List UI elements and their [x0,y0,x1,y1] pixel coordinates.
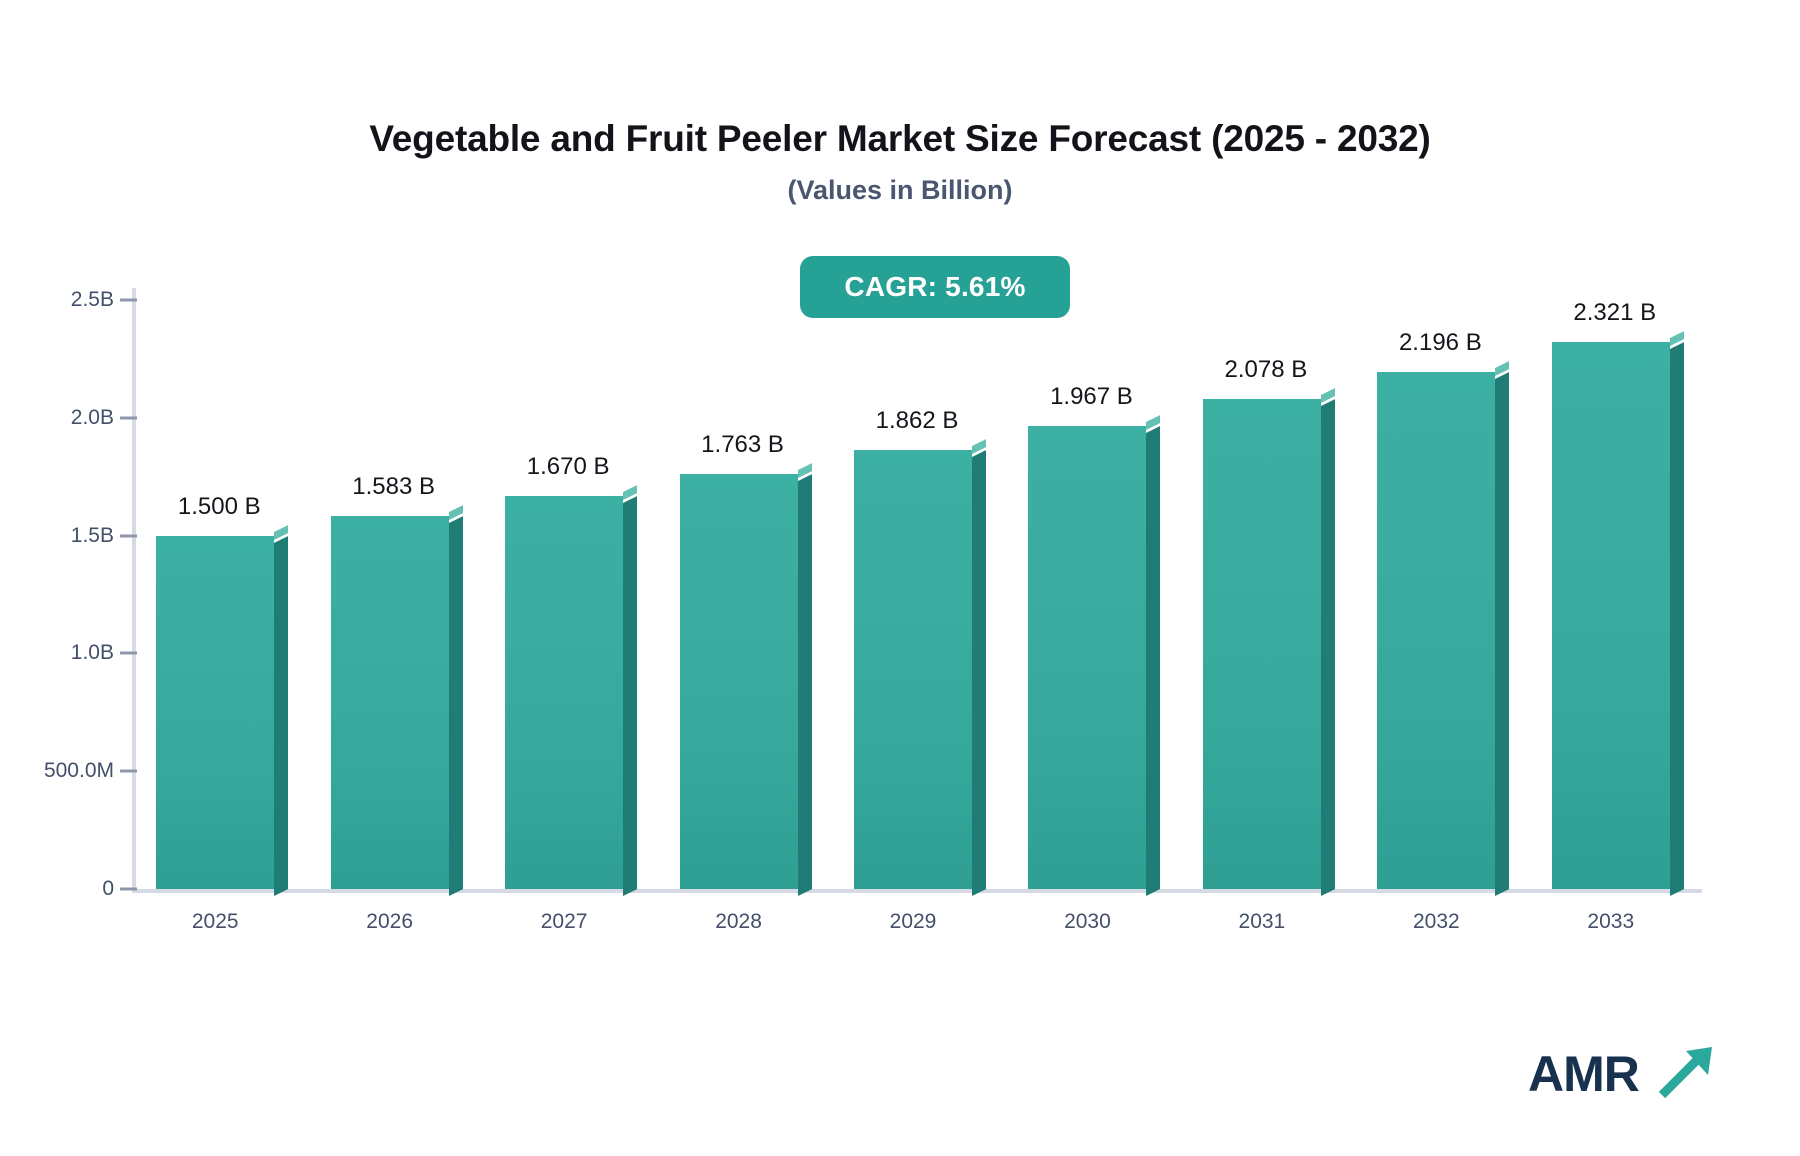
bar-value-label: 2.078 B [1225,356,1308,384]
x-axis-category-label: 2031 [1239,910,1286,934]
bar-value-label: 1.967 B [1050,383,1133,411]
bar-front-face [156,536,274,889]
amr-logo: AMR [1528,1045,1718,1107]
bar-value-label: 1.670 B [527,453,610,481]
bar-side-face [1146,426,1160,896]
y-axis-line [132,288,136,893]
bar-side-face [972,450,986,896]
y-axis-tick-label: 0 [4,877,114,901]
chart-canvas: Vegetable and Fruit Peeler Market Size F… [0,0,1800,1156]
x-axis-category-label: 2028 [715,910,762,934]
y-axis-tick-label: 500.0M [4,759,114,783]
bar[interactable] [1028,426,1146,889]
x-axis-category-label: 2033 [1587,910,1634,934]
bar-front-face [505,496,623,889]
bar-front-face [331,516,449,889]
y-axis-tick-label: 1.5B [4,524,114,548]
x-axis-category-label: 2025 [192,910,239,934]
bar-value-label: 1.500 B [178,493,261,521]
bar-front-face [1203,399,1321,889]
y-axis-tick-mark [120,416,137,419]
x-axis-category-label: 2027 [541,910,588,934]
bar[interactable] [1552,342,1670,889]
y-axis-tick-mark [120,534,137,537]
bar-front-face [854,450,972,889]
bar[interactable] [156,536,274,889]
x-axis-category-label: 2029 [890,910,937,934]
y-axis-tick-mark [120,299,137,302]
bar-side-face [623,496,637,896]
y-axis-tick-label: 2.0B [4,406,114,430]
y-axis-tick-label: 1.0B [4,641,114,665]
bar-front-face [1552,342,1670,889]
x-axis-category-label: 2032 [1413,910,1460,934]
x-axis-category-label: 2026 [366,910,413,934]
bar-side-face [1670,342,1684,896]
bar-side-face [274,536,288,896]
bar-side-face [798,474,812,896]
bar-front-face [1377,372,1495,889]
x-axis-line [132,889,1702,893]
bar-side-face [1495,372,1509,896]
chart-title: Vegetable and Fruit Peeler Market Size F… [0,118,1800,160]
bar[interactable] [505,496,623,889]
bar[interactable] [1203,399,1321,889]
bar-value-label: 1.763 B [701,431,784,459]
bar-value-label: 2.321 B [1573,299,1656,327]
bar-value-label: 2.196 B [1399,329,1482,357]
y-axis-tick-mark [120,770,137,773]
bar-side-face [1321,400,1335,896]
y-axis-tick-mark [120,888,137,891]
y-axis-tick-mark [120,652,137,655]
bar[interactable] [331,516,449,889]
bar-front-face [680,474,798,889]
growth-arrow-icon [1656,1045,1718,1100]
bar-front-face [1028,426,1146,889]
x-axis-category-label: 2030 [1064,910,1111,934]
bar[interactable] [854,450,972,889]
y-axis-tick-label: 2.5B [4,288,114,312]
bar-value-label: 1.862 B [876,407,959,435]
bar-side-face [449,516,463,896]
amr-logo-text: AMR [1528,1045,1639,1103]
bar[interactable] [1377,372,1495,889]
bar[interactable] [680,474,798,889]
plot-area: 0500.0M1.0B1.5B2.0B2.5B 1.500 B1.583 B1.… [132,288,1702,893]
bar-value-label: 1.583 B [352,473,435,501]
chart-subtitle: (Values in Billion) [0,175,1800,206]
